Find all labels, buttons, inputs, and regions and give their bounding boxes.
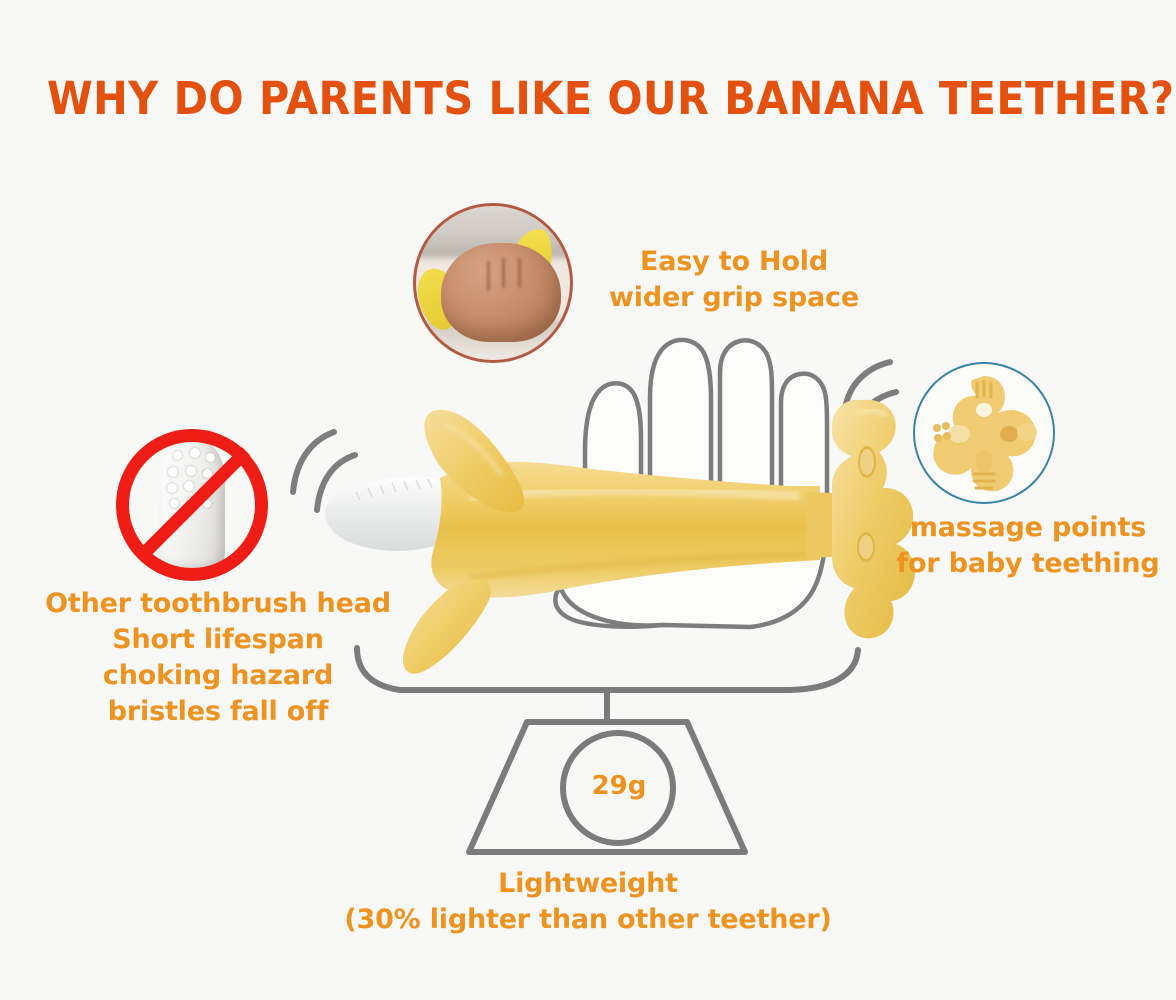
massage-dimple [1017, 423, 1037, 441]
shield-hole [858, 446, 876, 478]
easy-to-hold-line-2: wider grip space [576, 280, 892, 316]
teether-body [431, 462, 820, 598]
massage-head-photo [913, 362, 1055, 504]
brush-tip [325, 477, 470, 551]
massage-head-shape [915, 364, 1053, 502]
lightweight-line-2: (30% lighter than other teether) [308, 902, 868, 938]
other-toothbrush-caption: Other toothbrush head Short lifespan cho… [8, 586, 428, 730]
motion-arcs-right-icon [845, 362, 896, 438]
massage-points-line-1: massage points [880, 510, 1176, 546]
massage-points-caption: massage points for baby teething [880, 510, 1176, 582]
infographic-canvas: WHY DO PARENTS LIKE OUR BANANA TEETHER? [0, 0, 1176, 1000]
easy-to-hold-line-1: Easy to Hold [576, 244, 892, 280]
other-toothbrush-line-3: choking hazard [8, 658, 428, 694]
knuckle-crease [487, 261, 490, 291]
massage-hole [976, 403, 992, 417]
other-toothbrush-line-1: Other toothbrush head [8, 586, 428, 622]
massage-dimple [948, 425, 970, 443]
prohibition-sign-icon [113, 426, 271, 584]
teether-neck [806, 492, 856, 558]
easy-to-hold-caption: Easy to Hold wider grip space [576, 244, 892, 316]
lightweight-line-1: Lightweight [308, 866, 868, 902]
baby-hand [441, 243, 561, 342]
teether-peel-upper [424, 410, 524, 513]
hand-outline-icon [555, 340, 827, 627]
massage-dimple [1000, 426, 1018, 442]
massage-points-line-2: for baby teething [880, 546, 1176, 582]
balance-scale-icon [357, 648, 858, 852]
lightweight-caption: Lightweight (30% lighter than other teet… [308, 866, 868, 938]
page-title: WHY DO PARENTS LIKE OUR BANANA TEETHER? [47, 72, 1129, 125]
knuckle-crease [518, 258, 521, 288]
other-toothbrush-line-4: bristles fall off [8, 694, 428, 730]
other-toothbrush-line-2: Short lifespan [8, 622, 428, 658]
motion-arcs-left-icon [293, 432, 355, 510]
massage-nub [976, 450, 992, 472]
weight-value: 29g [583, 771, 655, 801]
knuckle-crease [502, 258, 505, 288]
shield-hole [857, 532, 875, 562]
easy-to-hold-photo [413, 203, 573, 363]
